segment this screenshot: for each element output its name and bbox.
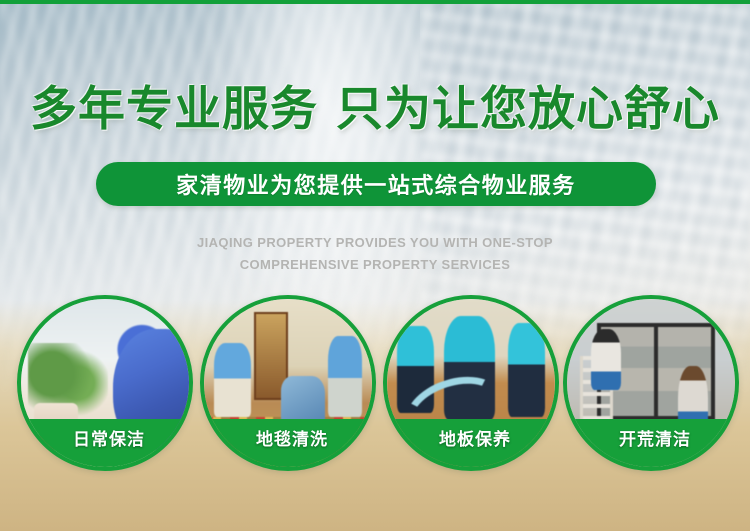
service-label-band: 开荒清洁 [563, 419, 739, 471]
service-label-band: 地毯清洗 [200, 419, 376, 471]
service-circle-list: 日常保洁 地毯清洗 地板保养 [0, 0, 750, 531]
worker-shape-left [214, 343, 251, 417]
service-label: 日常保洁 [73, 425, 145, 450]
worker-shape-right [508, 323, 545, 417]
worker-shape-on-ladder [591, 329, 621, 389]
service-label-band: 地板保养 [383, 419, 559, 471]
service-circle-post-construction-cleaning[interactable]: 开荒清洁 [563, 295, 739, 471]
worker-shape-right [328, 336, 362, 417]
service-circle-daily-cleaning[interactable]: 日常保洁 [17, 295, 193, 471]
service-label: 地毯清洗 [256, 425, 328, 450]
service-label: 开荒清洁 [619, 425, 691, 450]
service-label-band: 日常保洁 [17, 419, 193, 471]
promo-banner: 多年专业服务只为让您放心舒心 家清物业为您提供一站式综合物业服务 JIAQING… [0, 0, 750, 531]
service-circle-floor-maintenance[interactable]: 地板保养 [383, 295, 559, 471]
service-circle-carpet-cleaning[interactable]: 地毯清洗 [200, 295, 376, 471]
service-label: 地板保养 [439, 425, 511, 450]
